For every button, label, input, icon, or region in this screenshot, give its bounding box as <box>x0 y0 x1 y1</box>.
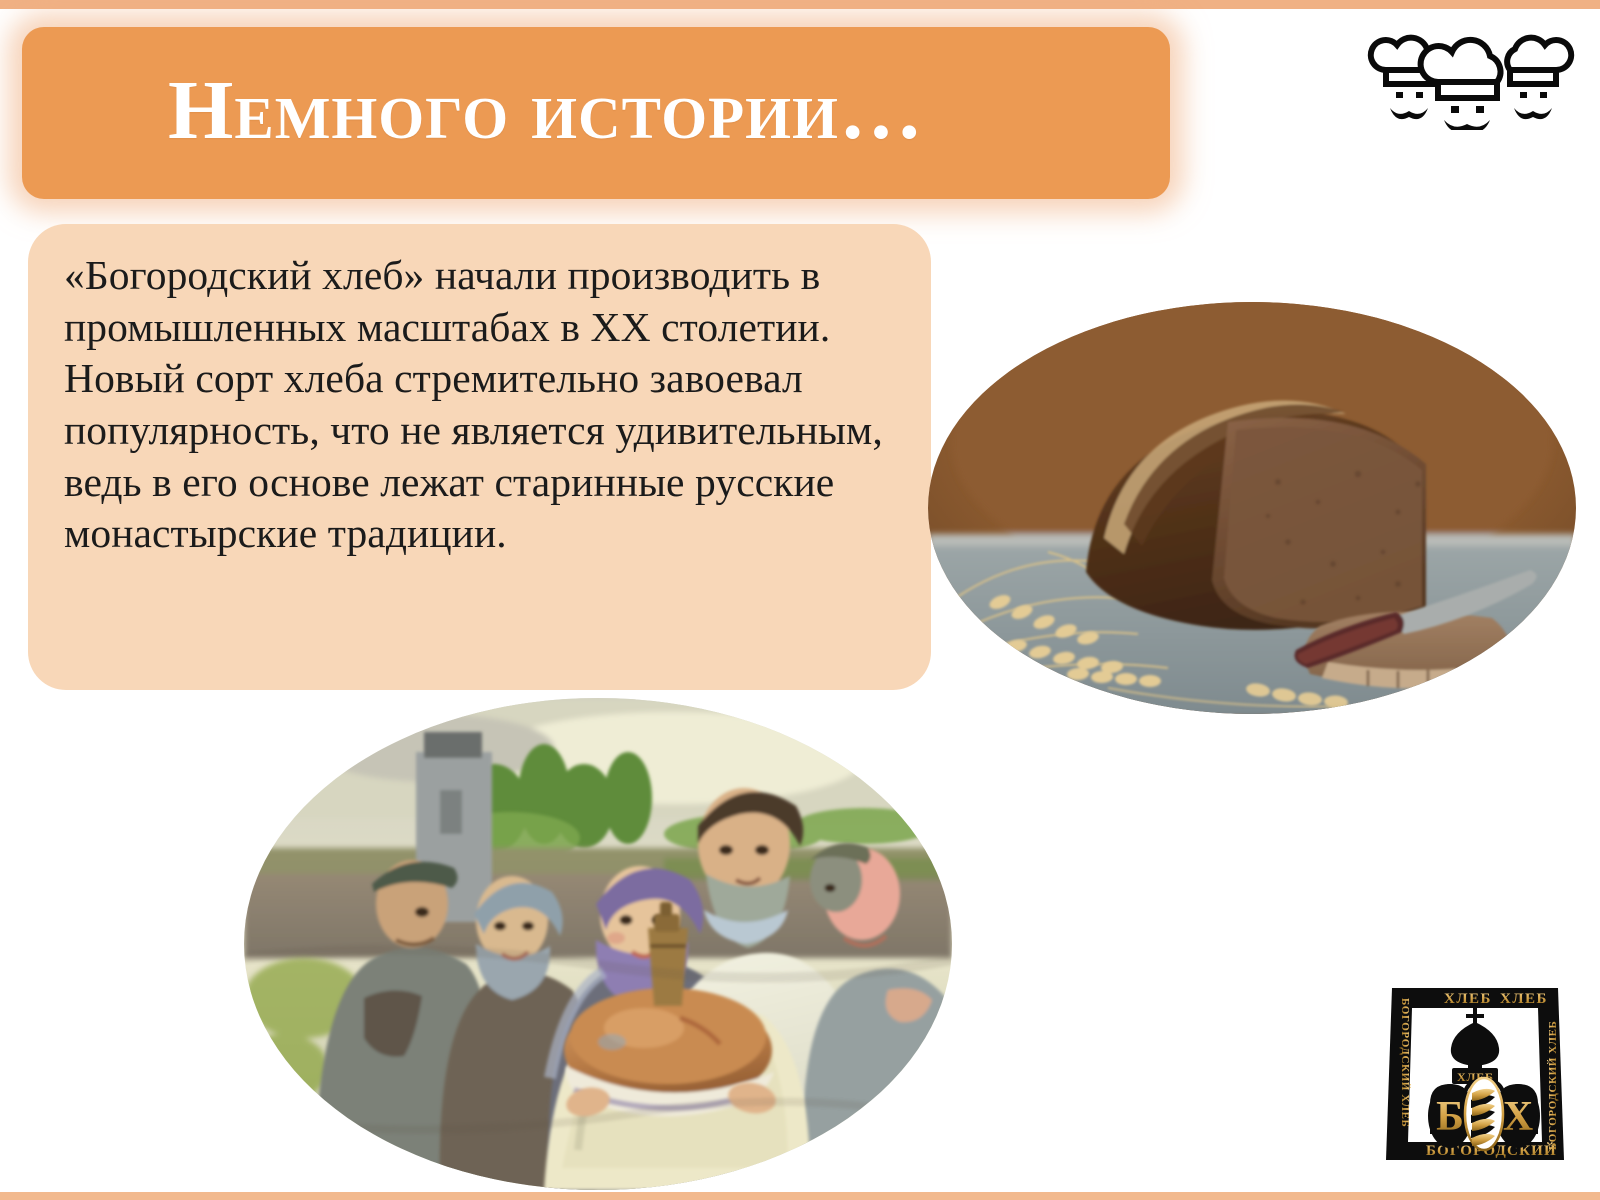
slide-root: Немного истории… <box>0 0 1600 1200</box>
body-text: «Богородский хлеб» начали производить в … <box>64 250 904 560</box>
logo-monogram-h: Х <box>1503 1094 1533 1140</box>
logo-bread-icon <box>1465 1078 1503 1150</box>
logo-top-text-right: ХЛЕБ <box>1500 991 1548 1007</box>
bread-photo <box>928 302 1576 714</box>
painting-photo <box>244 698 952 1190</box>
top-accent-strip <box>0 0 1600 9</box>
title-banner: Немного истории… <box>22 27 1170 199</box>
logo-top-text-left: ХЛЕБ <box>1444 991 1492 1007</box>
logo-left-text: БОГОРОДСКИЙ ХЛЕБ <box>1399 998 1411 1127</box>
chef-hats-icon <box>1366 22 1576 130</box>
body-text-panel: «Богородский хлеб» начали производить в … <box>28 224 931 690</box>
logo-right-text: БОГОРОДСКИЙ ХЛЕБ <box>1547 1021 1559 1150</box>
page-title: Немного истории… <box>168 67 924 155</box>
bogorodsky-hleb-logo: ХЛЕБ ХЛЕБ БОГОРОДСКИЙ БОГОРОДСКИЙ ХЛЕБ Б… <box>1368 964 1582 1178</box>
bottom-accent-strip <box>0 1192 1600 1200</box>
logo-monogram-b: Б <box>1436 1094 1464 1140</box>
